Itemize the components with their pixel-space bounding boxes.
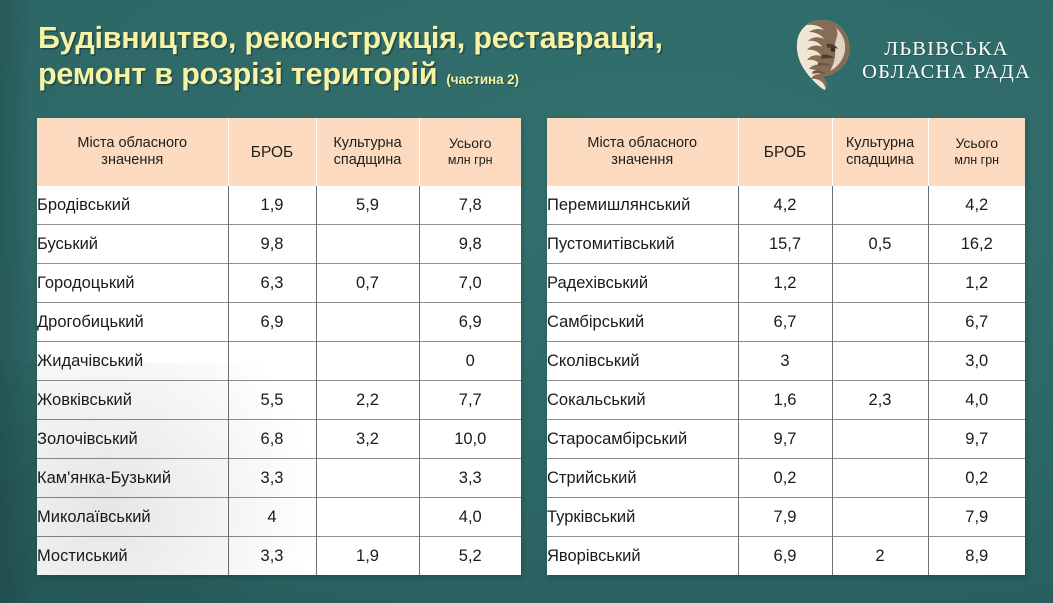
column-header-total-line1: Усього	[449, 135, 492, 151]
cell-total: 10,0	[419, 420, 521, 459]
cell-total: 4,0	[928, 381, 1025, 420]
title-subtitle: (частина 2)	[446, 62, 519, 98]
cell-total: 16,2	[928, 225, 1025, 264]
table-row: Пустомитівський 15,7 0,5 16,2	[547, 225, 1025, 264]
cell-city: Турківський	[547, 498, 738, 537]
organization-logo: ЛЬВІВСЬКА ОБЛАСНА РАДА	[792, 18, 1031, 92]
data-table-left-wrapper: Міста обласного значення БРОБ Культурна …	[37, 118, 521, 575]
cell-city: Яворівський	[547, 537, 738, 576]
cell-culture	[832, 186, 928, 225]
cell-city: Самбірський	[547, 303, 738, 342]
cell-total: 1,2	[928, 264, 1025, 303]
cell-city: Миколаївський	[37, 498, 228, 537]
column-header-city-line2: значення	[611, 152, 673, 168]
cell-city: Буський	[37, 225, 228, 264]
table-row: Радехівський 1,2 1,2	[547, 264, 1025, 303]
table-row: Яворівський 6,9 2 8,9	[547, 537, 1025, 576]
page-title: Будівництво, реконструкція, реставрація,…	[38, 20, 698, 98]
cell-city: Пустомитівський	[547, 225, 738, 264]
table-header-row: Міста обласного значення БРОБ Культурна …	[547, 118, 1025, 186]
cell-total: 6,9	[419, 303, 521, 342]
cell-culture	[316, 225, 419, 264]
cell-city: Городоцький	[37, 264, 228, 303]
cell-city: Кам'янка-Бузький	[37, 459, 228, 498]
table-row: Жидачівський 0	[37, 342, 521, 381]
column-header-total-line2: млн грн	[933, 152, 1022, 169]
column-header-city-line1: Міста обласного	[77, 135, 187, 151]
cell-city: Радехівський	[547, 264, 738, 303]
cell-culture	[316, 459, 419, 498]
cell-total: 7,7	[419, 381, 521, 420]
cell-total: 8,9	[928, 537, 1025, 576]
table-row: Турківський 7,9 7,9	[547, 498, 1025, 537]
cell-brob: 15,7	[738, 225, 832, 264]
cell-culture	[832, 264, 928, 303]
cell-culture: 5,9	[316, 186, 419, 225]
slide-header: Будівництво, реконструкція, реставрація,…	[0, 0, 1053, 112]
cell-culture: 2,3	[832, 381, 928, 420]
column-header-city-line2: значення	[101, 152, 163, 168]
cell-total: 7,0	[419, 264, 521, 303]
table-row: Дрогобицький 6,9 6,9	[37, 303, 521, 342]
cell-brob: 9,7	[738, 420, 832, 459]
table-row: Самбірський 6,7 6,7	[547, 303, 1025, 342]
cell-city: Мостиський	[37, 537, 228, 576]
cell-brob: 0,2	[738, 459, 832, 498]
cell-brob: 4,2	[738, 186, 832, 225]
logo-line-2: ОБЛАСНА РАДА	[862, 61, 1031, 84]
table-row: Перемишлянський 4,2 4,2	[547, 186, 1025, 225]
cell-total: 9,7	[928, 420, 1025, 459]
logo-wordmark: ЛЬВІВСЬКА ОБЛАСНА РАДА	[862, 26, 1031, 84]
cell-city: Жовківський	[37, 381, 228, 420]
cell-total: 4,0	[419, 498, 521, 537]
cell-total: 0	[419, 342, 521, 381]
cell-city: Сокальський	[547, 381, 738, 420]
cell-brob: 6,8	[228, 420, 316, 459]
cell-brob: 3	[738, 342, 832, 381]
table-row: Золочівський 6,8 3,2 10,0	[37, 420, 521, 459]
cell-brob: 6,7	[738, 303, 832, 342]
table-row: Старосамбірський 9,7 9,7	[547, 420, 1025, 459]
cell-brob: 1,9	[228, 186, 316, 225]
column-header-total: Усього млн грн	[419, 118, 521, 186]
data-table-right: Міста обласного значення БРОБ Культурна …	[547, 118, 1025, 575]
table-row: Кам'янка-Бузький 3,3 3,3	[37, 459, 521, 498]
cell-culture: 1,9	[316, 537, 419, 576]
column-header-culture: Культурна спадщина	[316, 118, 419, 186]
cell-culture	[832, 342, 928, 381]
cell-total: 7,9	[928, 498, 1025, 537]
cell-culture	[832, 459, 928, 498]
cell-brob: 6,9	[738, 537, 832, 576]
cell-brob: 6,3	[228, 264, 316, 303]
cell-brob	[228, 342, 316, 381]
column-header-brob: БРОБ	[228, 118, 316, 186]
cell-culture	[316, 498, 419, 537]
column-header-city: Міста обласного значення	[547, 118, 738, 186]
column-header-culture-line1: Культурна	[846, 135, 914, 151]
cell-brob: 7,9	[738, 498, 832, 537]
cell-city: Бродівський	[37, 186, 228, 225]
table-row: Городоцький 6,3 0,7 7,0	[37, 264, 521, 303]
cell-culture: 0,7	[316, 264, 419, 303]
cell-total: 4,2	[928, 186, 1025, 225]
cell-culture	[832, 420, 928, 459]
cell-culture: 0,5	[832, 225, 928, 264]
cell-city: Жидачівський	[37, 342, 228, 381]
cell-culture: 3,2	[316, 420, 419, 459]
cell-total: 3,0	[928, 342, 1025, 381]
column-header-culture: Культурна спадщина	[832, 118, 928, 186]
cell-total: 7,8	[419, 186, 521, 225]
cell-brob: 4	[228, 498, 316, 537]
table-row: Сколівський 3 3,0	[547, 342, 1025, 381]
table-row: Жовківський 5,5 2,2 7,7	[37, 381, 521, 420]
cell-culture	[316, 342, 419, 381]
data-table-left: Міста обласного значення БРОБ Культурна …	[37, 118, 521, 575]
cell-culture	[316, 303, 419, 342]
cell-brob: 3,3	[228, 459, 316, 498]
cell-culture	[832, 498, 928, 537]
cell-brob: 1,6	[738, 381, 832, 420]
title-line-1: Будівництво, реконструкція, реставрація,	[38, 20, 698, 56]
cell-city: Золочівський	[37, 420, 228, 459]
column-header-culture-line1: Культурна	[333, 135, 401, 151]
cell-city: Стрийський	[547, 459, 738, 498]
data-table-right-wrapper: Міста обласного значення БРОБ Культурна …	[547, 118, 1025, 575]
cell-brob: 9,8	[228, 225, 316, 264]
table-row: Бродівський 1,9 5,9 7,8	[37, 186, 521, 225]
cell-city: Сколівський	[547, 342, 738, 381]
column-header-total-line1: Усього	[955, 135, 998, 151]
table-header-row: Міста обласного значення БРОБ Культурна …	[37, 118, 521, 186]
cell-total: 5,2	[419, 537, 521, 576]
cell-city: Старосамбірський	[547, 420, 738, 459]
cell-culture: 2,2	[316, 381, 419, 420]
cell-brob: 6,9	[228, 303, 316, 342]
logo-line-1: ЛЬВІВСЬКА	[884, 38, 1009, 61]
cell-total: 6,7	[928, 303, 1025, 342]
column-header-culture-line2: спадщина	[846, 152, 914, 168]
slide: Будівництво, реконструкція, реставрація,…	[0, 0, 1053, 603]
cell-culture: 2	[832, 537, 928, 576]
column-header-total-line2: млн грн	[424, 152, 518, 169]
table-row: Миколаївський 4 4,0	[37, 498, 521, 537]
table-row: Мостиський 3,3 1,9 5,2	[37, 537, 521, 576]
table-row: Сокальський 1,6 2,3 4,0	[547, 381, 1025, 420]
table-row: Буський 9,8 9,8	[37, 225, 521, 264]
column-header-total: Усього млн грн	[928, 118, 1025, 186]
column-header-brob: БРОБ	[738, 118, 832, 186]
table-row: Стрийський 0,2 0,2	[547, 459, 1025, 498]
cell-brob: 5,5	[228, 381, 316, 420]
cell-total: 3,3	[419, 459, 521, 498]
lion-head-icon	[792, 18, 854, 92]
cell-total: 9,8	[419, 225, 521, 264]
cell-brob: 3,3	[228, 537, 316, 576]
cell-total: 0,2	[928, 459, 1025, 498]
cell-city: Перемишлянський	[547, 186, 738, 225]
cell-city: Дрогобицький	[37, 303, 228, 342]
column-header-culture-line2: спадщина	[334, 152, 402, 168]
title-line-2: ремонт в розрізі територій	[38, 56, 437, 92]
cell-brob: 1,2	[738, 264, 832, 303]
cell-culture	[832, 303, 928, 342]
column-header-city-line1: Міста обласного	[587, 135, 697, 151]
column-header-city: Міста обласного значення	[37, 118, 228, 186]
